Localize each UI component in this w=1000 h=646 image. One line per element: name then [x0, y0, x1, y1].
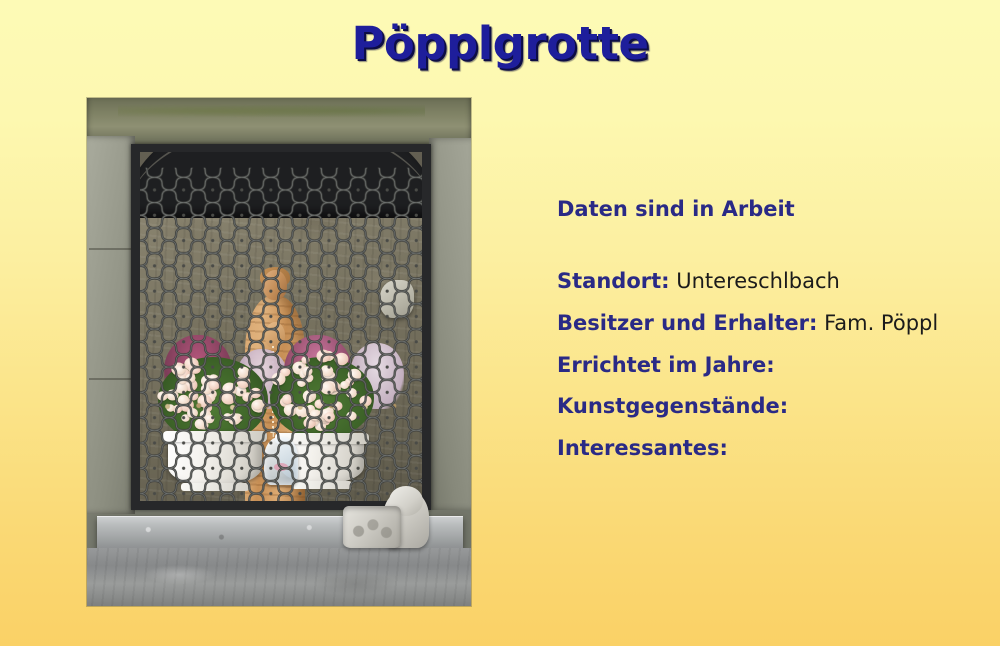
flower-petal — [208, 380, 219, 390]
flower-petal — [250, 388, 262, 399]
info-label: Errichtet im Jahre: — [557, 353, 775, 377]
info-row-interessantes: Interessantes: — [557, 435, 977, 463]
info-label: Kunstgegenstände: — [557, 394, 788, 418]
flower-petal — [324, 413, 335, 423]
flower-petal — [316, 349, 330, 362]
page-root: Pöpplgrotte — [0, 0, 1000, 646]
iron-window-frame — [131, 144, 431, 510]
info-value: Untereschlbach — [676, 269, 840, 293]
flower-petal — [237, 376, 251, 388]
flower-petal — [175, 383, 187, 394]
glass-figurine — [264, 437, 298, 485]
cherub-planter — [343, 486, 429, 548]
petal-cluster — [270, 357, 374, 439]
flower-petal — [346, 412, 356, 421]
madonna-hands — [265, 322, 285, 348]
stone-lintel — [87, 98, 471, 150]
light-stone-block — [380, 280, 414, 318]
flower-petal — [272, 373, 286, 386]
info-label: Interessantes: — [557, 436, 728, 460]
flower-petal — [340, 381, 349, 389]
info-heading: Daten sind in Arbeit — [557, 196, 977, 222]
info-label: Besitzer und Erhalter: — [557, 311, 817, 335]
flower-petal — [157, 391, 167, 401]
page-title: Pöpplgrotte — [351, 17, 648, 70]
info-label: Standort: — [557, 269, 670, 293]
madonna-head — [263, 270, 287, 300]
chrysanthemum-mound — [270, 357, 374, 439]
flower-petal — [347, 369, 361, 381]
info-row-besitzer: Besitzer und Erhalter: Fam. Pöppl — [557, 310, 977, 338]
stone-pier-right — [429, 138, 471, 510]
sill-base-stone — [87, 548, 471, 606]
flower-petal — [322, 365, 334, 376]
info-row-standort: Standort: Untereschlbach — [557, 268, 977, 296]
stone-pier-left — [87, 136, 135, 514]
flower-petal — [309, 410, 321, 421]
flower-petal — [237, 366, 249, 377]
info-row-errichtet: Errichtet im Jahre: — [557, 352, 977, 380]
title-bar: Pöpplgrotte — [0, 0, 1000, 86]
white-urn-planter — [168, 431, 262, 485]
niche-interior — [140, 152, 422, 501]
flower-petal — [178, 376, 186, 384]
info-row-kunstgegenstaende: Kunstgegenstände: — [557, 393, 977, 421]
flower-petal — [346, 388, 357, 398]
info-panel: Daten sind in Arbeit Standort: Unteresch… — [557, 196, 977, 477]
flower-petal — [301, 356, 309, 364]
arch-moulding — [140, 152, 422, 218]
flower-petal — [205, 415, 215, 424]
flower-petal — [190, 364, 201, 374]
shrine-photo — [87, 98, 471, 606]
urn-rim — [163, 431, 267, 442]
urn-foot — [181, 483, 249, 491]
cherub-pot — [343, 506, 401, 548]
info-value: Fam. Pöppl — [824, 311, 938, 335]
flower-petal — [335, 353, 349, 366]
gravel-strip — [152, 402, 412, 411]
arch-tympanum — [140, 152, 422, 218]
